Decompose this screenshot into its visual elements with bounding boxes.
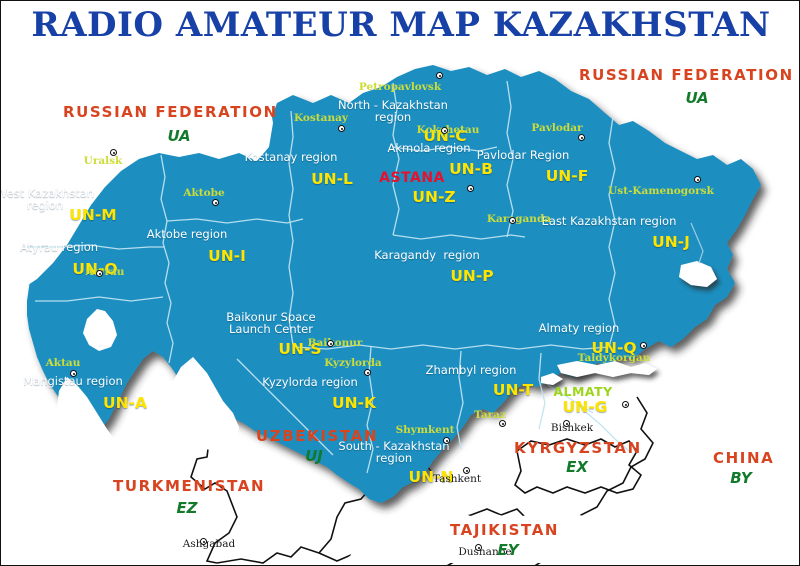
city-label-kostanay: Kostanay bbox=[294, 113, 348, 124]
region-code-un-k: UN-K bbox=[332, 395, 376, 411]
region-code-un-a: UN-A bbox=[103, 395, 147, 411]
city-dot-kostanay bbox=[338, 125, 345, 132]
city-label-bishkek: Bishkek bbox=[551, 423, 593, 434]
city-label-pavlodar: Pavlodar bbox=[531, 123, 582, 134]
country-label-tajikistan-5: TAJIKISTAN bbox=[450, 523, 559, 539]
region-code-un-i: UN-I bbox=[208, 248, 246, 264]
city-dot-pavlodar bbox=[578, 134, 585, 141]
page-title: RADIO AMATEUR MAP KAZAKHSTAN bbox=[1, 5, 800, 45]
city-dot-ashgabad bbox=[200, 538, 207, 545]
city-label-tashkent: Tashkent bbox=[433, 474, 481, 485]
region-code-un-b: UN-B bbox=[449, 161, 493, 177]
city-dot-atyrau bbox=[96, 270, 103, 277]
city-label-taldykorgan: Taldykorgan bbox=[578, 353, 651, 364]
country-label-uzbekistan-2: UZBEKISTAN bbox=[256, 429, 378, 445]
region-label-un-s: Baikonur Space Launch Center bbox=[226, 311, 315, 335]
region-label-un-o: Atyrau region bbox=[20, 241, 98, 253]
region-label-un-c: North - Kazakhstan region bbox=[338, 99, 448, 123]
city-label-aktobe: Aktobe bbox=[183, 188, 224, 199]
region-code-un-m: UN-M bbox=[69, 207, 116, 223]
region-label-un-q: Almaty region bbox=[539, 322, 620, 334]
region-label-un-i: Aktobe region bbox=[147, 228, 227, 240]
city-label-karaganda: Karaganda bbox=[487, 214, 551, 225]
country-code-by-6: BY bbox=[730, 471, 751, 487]
country-label-russian-federation-0: RUSSIAN FEDERATION bbox=[63, 105, 278, 121]
city-dot-shymkent bbox=[443, 437, 450, 444]
region-label-un-l: Kostanay region bbox=[245, 151, 338, 163]
region-code-un-f: UN-F bbox=[546, 168, 589, 184]
city-dot-petropavlovsk bbox=[436, 72, 443, 79]
capital-code-un-z: UN-Z bbox=[412, 189, 455, 205]
country-code-ex-4: EX bbox=[566, 460, 588, 476]
city-dot-kokshetau bbox=[441, 127, 448, 134]
capital-label-astana: ASTANA bbox=[379, 171, 445, 186]
country-code-ua-0: UA bbox=[167, 129, 190, 145]
city-dot-dushanbe bbox=[475, 544, 482, 551]
city-dot-aktobe bbox=[212, 199, 219, 206]
city-label-ashgabad: Ashgabad bbox=[183, 539, 235, 550]
region-label-un-k: Kyzylorda region bbox=[262, 376, 357, 388]
map-page: RADIO AMATEUR MAP KAZAKHSTAN bbox=[0, 0, 800, 566]
country-label-kyrgyzstan-4: KYRGYZSTAN bbox=[514, 441, 642, 457]
country-code-ey-5: EY bbox=[497, 543, 518, 559]
city-dot-astana bbox=[467, 185, 474, 192]
country-code-uj-2: UJ bbox=[305, 449, 323, 465]
region-code-un-p: UN-P bbox=[450, 268, 493, 284]
city-label-shymkent: Shymkent bbox=[396, 425, 455, 436]
country-code-ez-3: EZ bbox=[176, 501, 197, 517]
country-code-ua-1: UA bbox=[685, 91, 708, 107]
city-dot-kyzylorda bbox=[364, 369, 371, 376]
city-dot-taldykorgan bbox=[640, 342, 647, 349]
region-code-un-t: UN-T bbox=[493, 382, 533, 398]
city-label-atyrau: Atyrau bbox=[86, 267, 125, 278]
city-label-baikonur: Baikonur bbox=[308, 338, 363, 349]
city-dot-aktau bbox=[70, 370, 77, 377]
country-label-turkmenistan-3: TURKMENISTAN bbox=[113, 479, 265, 495]
region-label-un-t: Zhambyl region bbox=[426, 364, 517, 376]
city-dot-tashkent bbox=[463, 467, 470, 474]
region-code-un-l: UN-L bbox=[311, 171, 353, 187]
city-dot-karaganda bbox=[509, 217, 516, 224]
region-label-un-p: Karagandy region bbox=[374, 249, 480, 261]
city-dot-bishkek bbox=[563, 420, 570, 427]
region-label-un-f: Pavlodar Region bbox=[477, 149, 570, 161]
region-code-un-j: UN-J bbox=[652, 234, 690, 250]
city-label-ust-kamenogorsk: Ust-Kamenogorsk bbox=[608, 186, 714, 197]
city-label-kyzylorda: Kyzylorda bbox=[324, 358, 382, 369]
map-canvas[interactable]: West Kazakhstan regionUN-MAtyrau regionU… bbox=[1, 47, 799, 565]
city-label-kokshetau: Kokshetau bbox=[417, 125, 480, 136]
country-label-russian-federation-1: RUSSIAN FEDERATION bbox=[579, 68, 794, 84]
capital-label-almaty: ALMATY bbox=[553, 385, 612, 398]
country-label-china-6: CHINA bbox=[713, 451, 774, 467]
city-label-aktau: Aktau bbox=[46, 358, 81, 369]
region-label-un-j: East Kazakhstan region bbox=[542, 215, 677, 227]
city-dot-ust-kamenogorsk bbox=[694, 176, 701, 183]
city-dot-baikonur bbox=[327, 340, 334, 347]
city-dot-almaty bbox=[622, 401, 629, 408]
city-label-uralsk: Uralsk bbox=[84, 156, 123, 167]
capital-code-un-g: UN-G bbox=[563, 399, 608, 415]
city-label-petropavlovsk: Petropavlovsk bbox=[359, 82, 441, 93]
city-dot-taraz bbox=[499, 420, 506, 427]
region-label-un-b: Akmola region bbox=[387, 142, 470, 154]
city-dot-uralsk bbox=[110, 149, 117, 156]
